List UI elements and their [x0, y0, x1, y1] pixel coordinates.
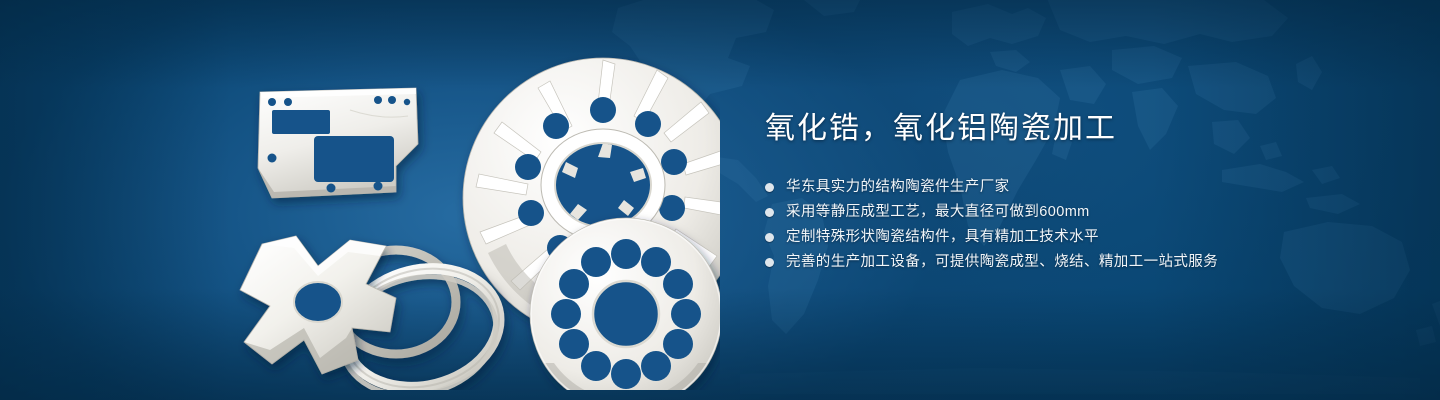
feature-text: 采用等静压成型工艺，最大直径可做到600mm [786, 200, 1090, 225]
bullet-dot-icon [765, 233, 774, 242]
ceramic-products-image [200, 40, 720, 390]
feature-list: 华东具实力的结构陶瓷件生产厂家 采用等静压成型工艺，最大直径可做到600mm 定… [765, 175, 1365, 275]
ceramic-plate-part [258, 88, 418, 198]
bullet-dot-icon [765, 183, 774, 192]
promo-banner: 氧化锆，氧化铝陶瓷加工 华东具实力的结构陶瓷件生产厂家 采用等静压成型工艺，最大… [0, 0, 1440, 400]
bullet-dot-icon [765, 208, 774, 217]
list-item: 华东具实力的结构陶瓷件生产厂家 [765, 175, 1365, 200]
feature-text: 华东具实力的结构陶瓷件生产厂家 [786, 175, 1010, 200]
bullet-dot-icon [765, 258, 774, 267]
banner-headline: 氧化锆，氧化铝陶瓷加工 [765, 110, 1365, 148]
feature-text: 完善的生产加工设备，可提供陶瓷成型、烧结、精加工一站式服务 [786, 250, 1218, 275]
banner-copy: 氧化锆，氧化铝陶瓷加工 华东具实力的结构陶瓷件生产厂家 采用等静压成型工艺，最大… [765, 110, 1365, 275]
list-item: 采用等静压成型工艺，最大直径可做到600mm [765, 200, 1365, 225]
feature-text: 定制特殊形状陶瓷结构件，具有精加工技术水平 [786, 225, 1099, 250]
list-item: 定制特殊形状陶瓷结构件，具有精加工技术水平 [765, 225, 1365, 250]
list-item: 完善的生产加工设备，可提供陶瓷成型、烧结、精加工一站式服务 [765, 250, 1365, 275]
